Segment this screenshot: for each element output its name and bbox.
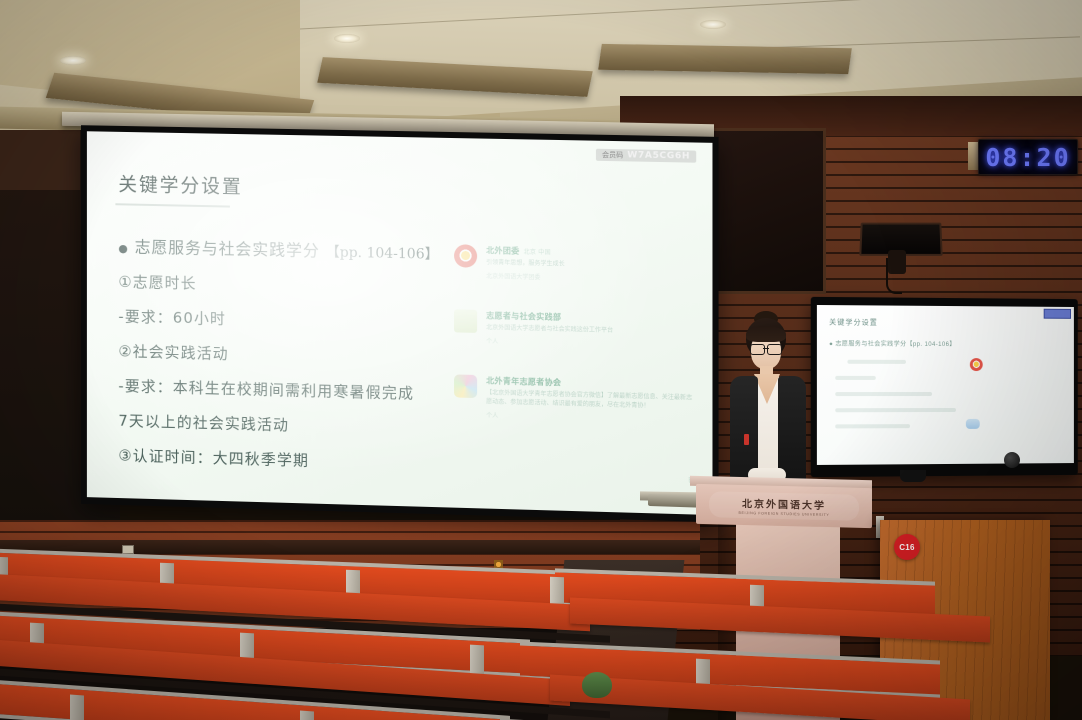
bullet-heading-text: 志愿服务与社会实践学分: [135, 233, 320, 261]
account-meta: 北京外国语大学团委: [486, 271, 696, 285]
hair-fringe: [746, 326, 786, 342]
downlight-icon: [334, 34, 360, 43]
monitor-text-line: [835, 392, 932, 396]
account-meta: 个人: [486, 410, 696, 425]
list-item: 志愿者与社会实践部 北京外国语大学志愿者与社会实践这份工作平台 个人: [454, 309, 696, 350]
speaker-cable: [886, 258, 902, 294]
left-upper-wall: [0, 130, 80, 190]
flower-icon: [966, 419, 980, 429]
monitor-slide-title: 关键学分设置: [829, 317, 1074, 329]
side-monitor: 关键学分设置 ● 志愿服务与社会实践学分【pp. 104-106】: [811, 297, 1078, 477]
monitor-text-line: [835, 408, 956, 412]
account-desc: 引领青年思想，服务学生成长: [486, 259, 696, 273]
flower-icon: [454, 374, 477, 398]
wall-dark-board: [700, 128, 826, 294]
clock-time: 08:20: [985, 143, 1070, 172]
egg-badge-icon: [970, 358, 983, 371]
digital-clock: 08:20: [978, 139, 1078, 175]
slide-title: 关键学分设置: [118, 170, 712, 209]
venue-name-sub: BEIJING FOREIGN STUDIES UNIVERSITY: [739, 511, 830, 517]
podium-nameplate: 北京外国语大学 BEIJING FOREIGN STUDIES UNIVERSI…: [709, 491, 859, 521]
name-badge: [744, 434, 749, 445]
floor-object: [582, 672, 612, 698]
egg-badge-icon: [454, 244, 477, 268]
monitor-text-line: [835, 376, 876, 380]
list-item: 北外青年志愿者协会 【北京外国语大学青年志愿者协会官方微信】了解最新志愿信息、关…: [454, 374, 696, 424]
account-name: 志愿者与社会实践部: [486, 310, 696, 326]
monitor-osd-badge: [1044, 309, 1071, 319]
account-desc: 【北京外国语大学青年志愿者协会官方微信】了解最新志愿信息、关注最新志愿动态、参加…: [486, 389, 696, 412]
downlight-icon: [60, 56, 86, 65]
account-meta: 个人: [486, 336, 696, 350]
projection-screen-frame: 会员码 W7A5CG6H 关键学分设置 ● 志愿服务与社会实践学分 【pp. 1…: [81, 125, 719, 522]
bullet-marker-icon: ●: [118, 242, 128, 255]
bullet-page-reference: 【pp. 104-106】: [326, 241, 439, 263]
wheat-icon: [454, 309, 477, 333]
desk-post: [300, 711, 314, 720]
monitor-text-line: [847, 360, 906, 364]
downlight-icon: [700, 20, 726, 29]
seating-area: [0, 545, 910, 720]
venue-name: 北京外国语大学: [742, 495, 826, 512]
monitor-slide-bullet: ● 志愿服务与社会实践学分【pp. 104-106】: [829, 338, 1074, 348]
glasses-icon: [750, 344, 782, 353]
monitor-stand: [900, 470, 926, 482]
slide-title-underline: [115, 203, 229, 207]
ceiling-beam: [598, 44, 852, 74]
camera-icon: [1004, 452, 1020, 468]
lecture-hall-photo: 08:20 会员码 W7A5CG6H 关键学分设置 ● 志愿服务与社会实践学分 …: [0, 0, 1082, 720]
slide-account-list: 北外团委北京 中国 引领青年思想，服务学生成长 北京外国语大学团委 志愿者与社会…: [454, 244, 696, 455]
monitor-text-line: [835, 424, 910, 428]
side-monitor-screen: 关键学分设置 ● 志愿服务与社会实践学分【pp. 104-106】: [817, 305, 1074, 465]
desk-post: [70, 695, 84, 720]
projection-screen: 会员码 W7A5CG6H 关键学分设置 ● 志愿服务与社会实践学分 【pp. 1…: [87, 131, 713, 515]
list-item: 北外团委北京 中国 引领青年思想，服务学生成长 北京外国语大学团委: [454, 244, 696, 284]
podium-front: 北京外国语大学 BEIJING FOREIGN STUDIES UNIVERSI…: [696, 484, 872, 528]
